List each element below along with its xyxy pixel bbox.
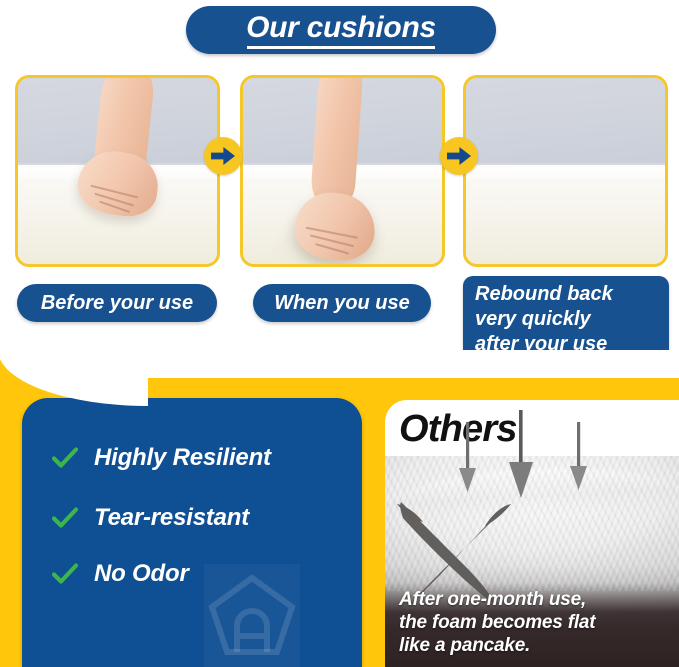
- yellow-band-top-white-gap: [96, 350, 679, 378]
- step-label-during: When you use: [253, 284, 431, 322]
- pressure-arrows-group: [445, 406, 635, 506]
- step-label-after-line-1: Rebound back: [475, 282, 613, 307]
- benefit-item: Tear-resistant: [52, 504, 249, 532]
- others-caption-line-1: After one-month use,: [399, 588, 595, 611]
- step-label-before: Before your use: [17, 284, 217, 322]
- others-caption-line-2: the foam becomes flat: [399, 611, 595, 634]
- step-label-before-text: Before your use: [41, 292, 193, 315]
- arrow-right-icon: [204, 137, 242, 175]
- check-icon: [52, 507, 78, 529]
- benefit-label: Highly Resilient: [94, 444, 271, 472]
- home-pentagon-logo-icon: [204, 564, 300, 667]
- infographic-root: Our cushions: [0, 0, 679, 667]
- check-icon: [52, 447, 78, 469]
- page-title-text: Our cushions: [246, 13, 436, 43]
- mattress-edge-highlight: [463, 162, 668, 181]
- title-underline: [247, 46, 435, 49]
- others-caption: After one-month use, the foam becomes fl…: [399, 588, 595, 657]
- step-label-during-text: When you use: [274, 292, 410, 315]
- benefits-panel: Highly Resilient Tear-resistant No Odor: [22, 398, 362, 667]
- arrow-right-icon: [440, 137, 478, 175]
- step-image-before: [15, 75, 220, 267]
- step-label-after-line-2: very quickly: [475, 307, 591, 332]
- others-comparison-panel: Others: [385, 400, 679, 667]
- benefit-label: No Odor: [94, 560, 189, 588]
- benefit-item: Highly Resilient: [52, 444, 271, 472]
- benefit-label: Tear-resistant: [94, 504, 249, 532]
- step-image-after: [463, 75, 668, 267]
- knuckle-line: [90, 185, 138, 199]
- benefit-item: No Odor: [52, 560, 189, 588]
- step-image-during: [240, 75, 445, 267]
- page-title: Our cushions: [186, 6, 496, 54]
- bed-sheet-backdrop: [466, 78, 665, 165]
- page-title-inner: Our cushions: [246, 13, 436, 47]
- forearm-shape: [310, 75, 363, 202]
- others-caption-line-3: like a pancake.: [399, 634, 595, 657]
- check-icon: [52, 563, 78, 585]
